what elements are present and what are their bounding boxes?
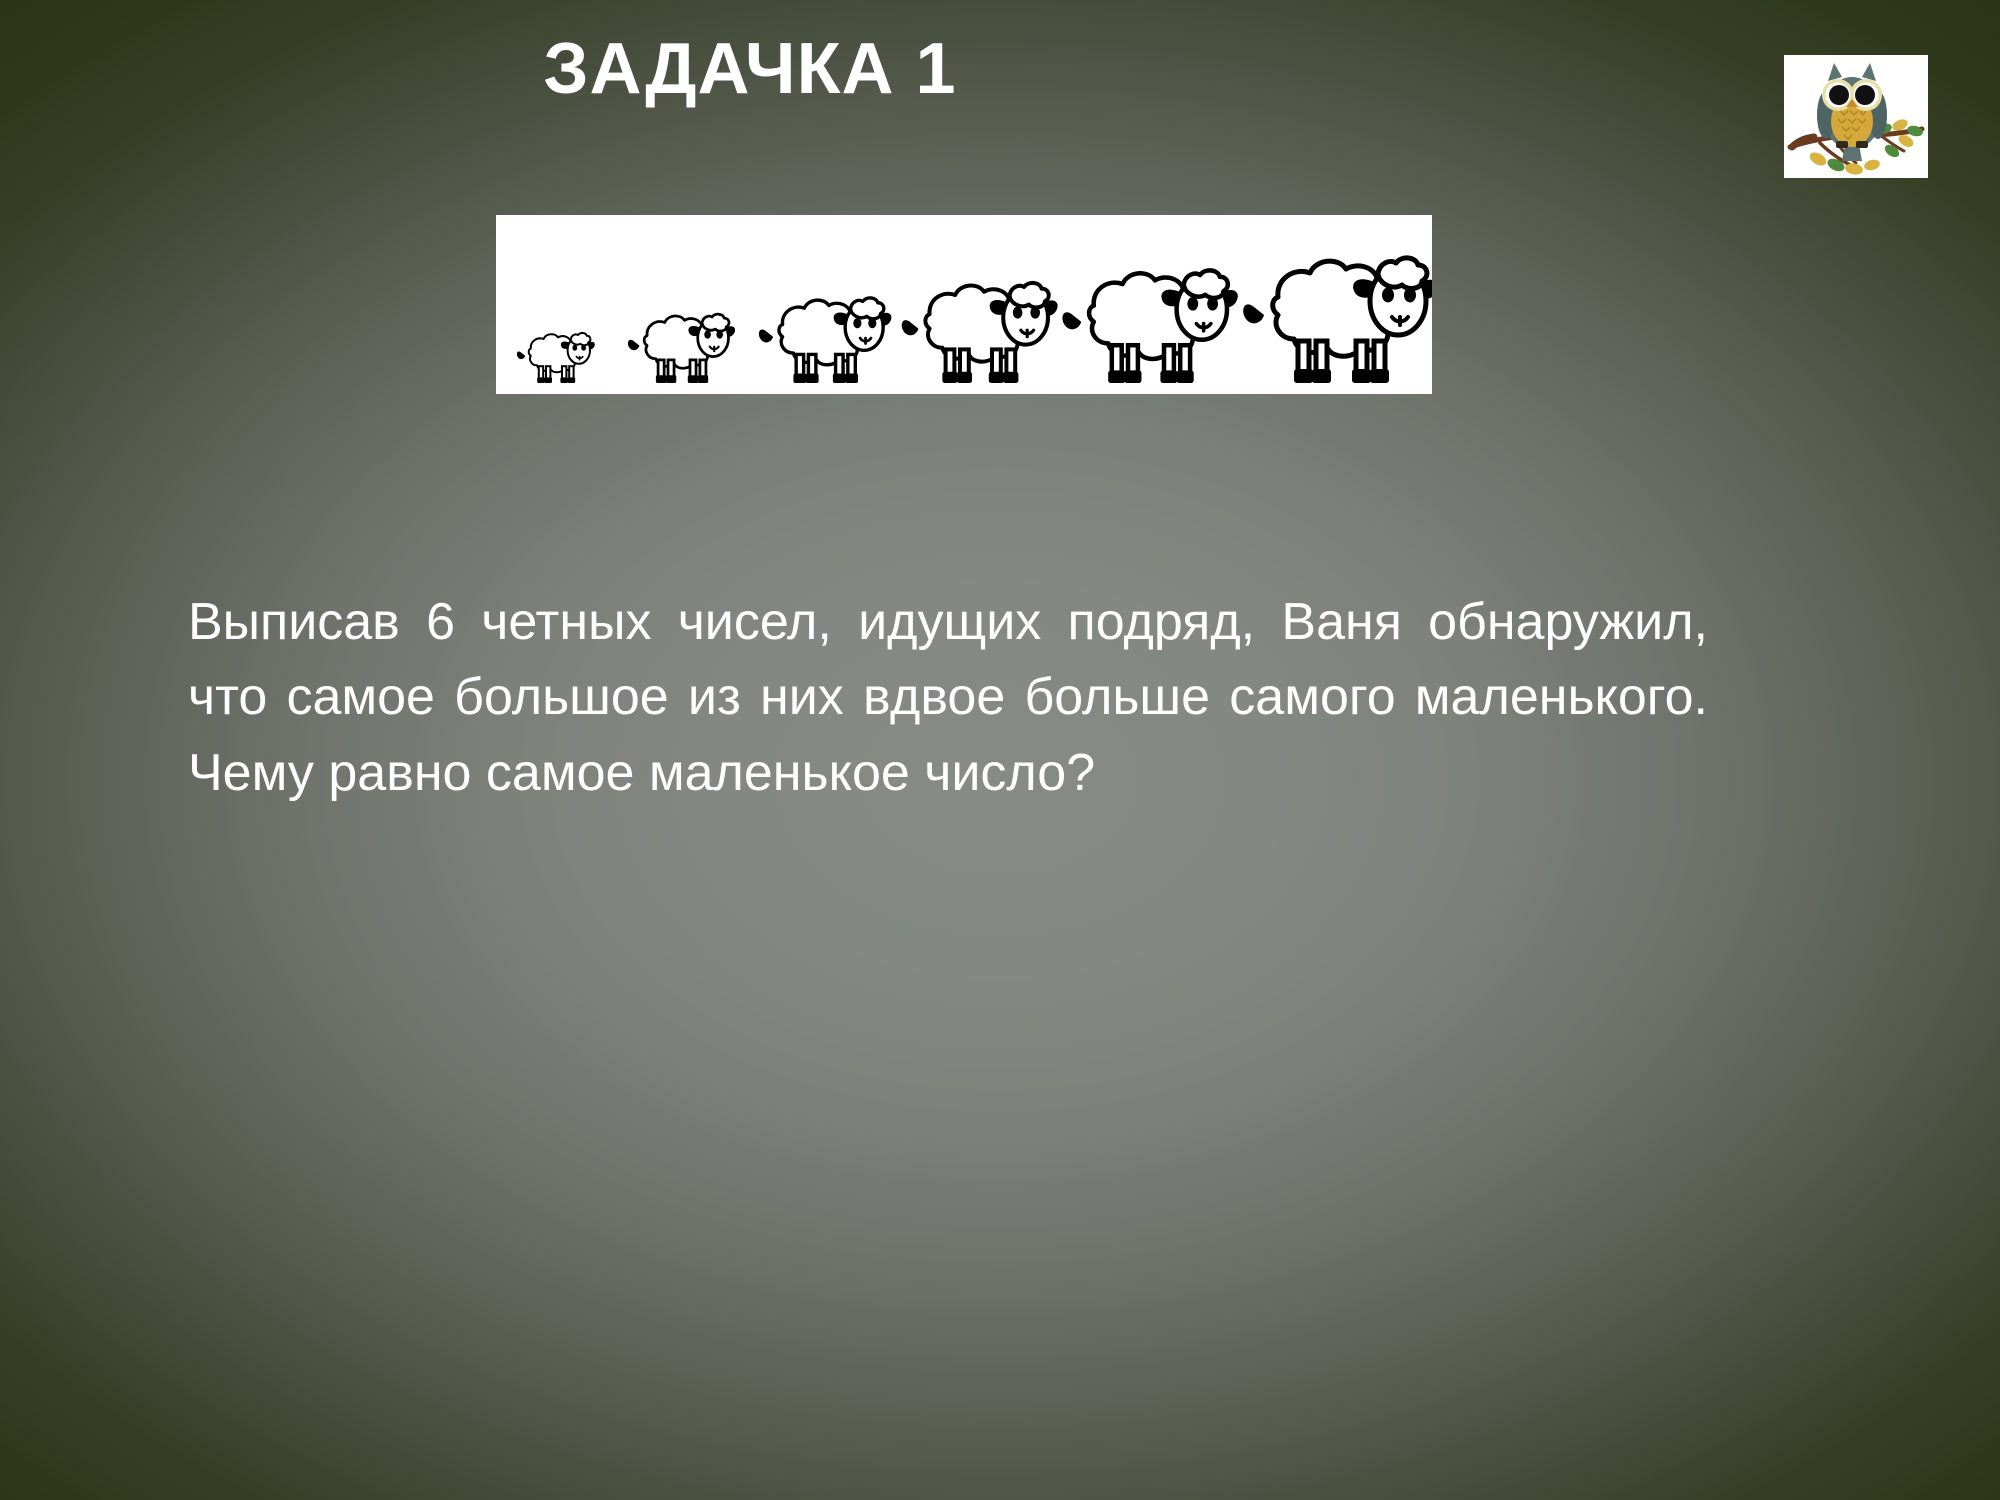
problem-statement-text: Выписав 6 четных чисел, идущих подряд, В… <box>188 585 1708 811</box>
page-title: ЗАДАЧКА 1 <box>0 30 1500 109</box>
slide-canvas: ЗАДАЧКА 1 <box>0 0 2000 1500</box>
problem-statement: Выписав 6 четных чисел, идущих подряд, В… <box>188 585 1708 811</box>
owl-logo <box>1784 55 1928 178</box>
sheep-row-illustration <box>496 215 1432 394</box>
